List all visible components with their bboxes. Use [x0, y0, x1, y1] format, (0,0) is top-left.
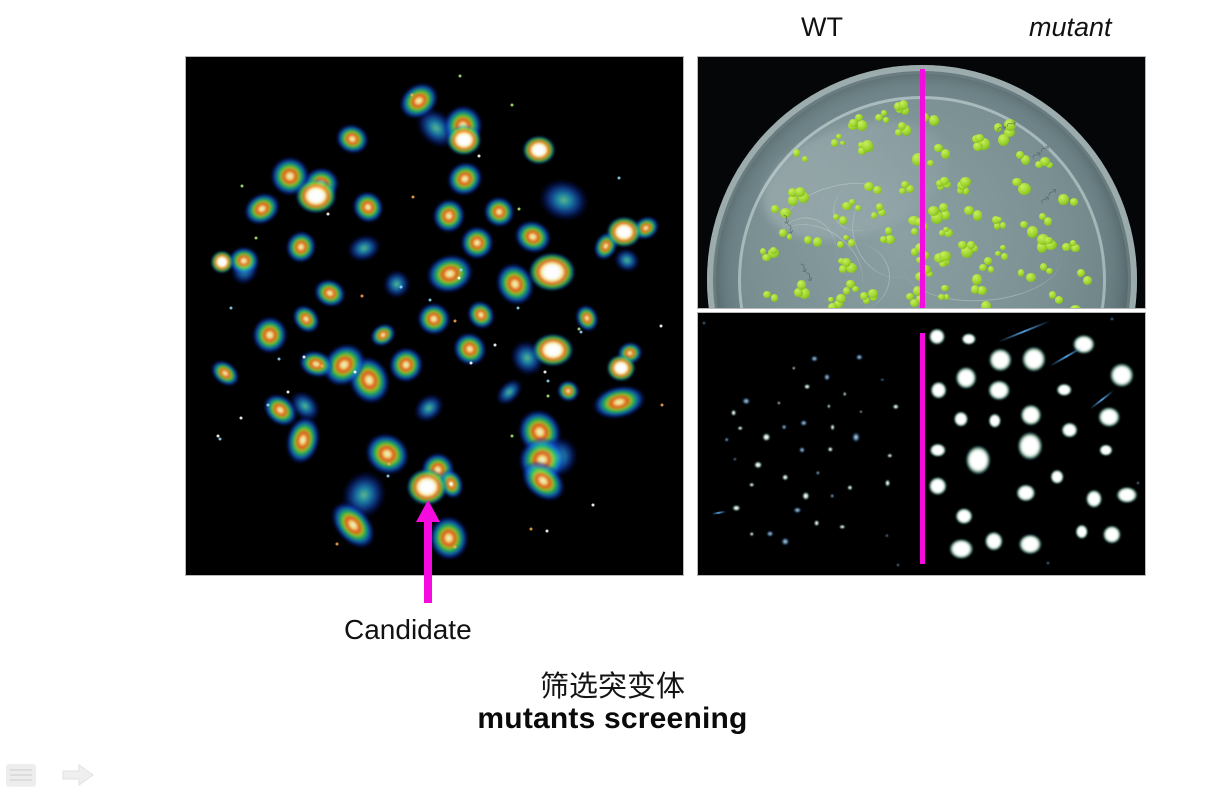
fluorescence-speck: [449, 212, 452, 215]
fluorescence-speck: [547, 395, 550, 398]
cotyledon: [828, 297, 834, 303]
fluorescence-speck: [267, 404, 270, 407]
fluorescent-seedling: [1056, 383, 1072, 396]
fluorescence-blob: [332, 120, 373, 159]
fluorescent-seedling: [886, 534, 889, 538]
cotyledon: [770, 247, 777, 254]
fluorescence-speck: [321, 365, 324, 368]
fluorescent-seedling: [881, 378, 884, 381]
fluorescence-blob: [346, 185, 389, 229]
fluorescent-seedling: [856, 354, 862, 360]
fluorescent-seedling: [782, 425, 787, 430]
fluorescence-streak: [1050, 346, 1084, 367]
cotyledon: [1026, 273, 1035, 282]
fluorescence-speck: [517, 307, 520, 310]
fluorescence-speck: [478, 155, 481, 158]
fluorescence-speck: [618, 177, 621, 180]
fluorescent-seedling: [928, 328, 945, 346]
cotyledon: [793, 149, 801, 157]
cotyledon: [964, 206, 974, 215]
cotyledon: [842, 258, 850, 268]
fluorescence-speck: [580, 331, 583, 334]
fluorescence-blob: [415, 301, 453, 338]
fluorescent-seedling: [811, 355, 817, 362]
fluorescent-seedling: [954, 411, 969, 427]
cotyledon: [802, 156, 808, 162]
cotyledon: [967, 241, 974, 249]
cotyledon: [899, 188, 906, 194]
fluorescence-blob-bright: [607, 355, 635, 381]
cotyledon: [910, 299, 920, 307]
fluorescence-speck: [411, 94, 414, 97]
fluorescence-speck: [459, 75, 462, 78]
fluorescent-seedling: [966, 445, 992, 475]
cotyledon: [901, 181, 910, 188]
fluorescent-seedling: [804, 384, 810, 390]
fluorescence-speck: [494, 344, 497, 347]
fluorescent-seedling: [731, 409, 737, 415]
fluorescent-seedling: [794, 507, 801, 513]
cotyledon: [1070, 198, 1079, 206]
fluorescence-speck: [240, 417, 243, 420]
cotyledon: [944, 294, 949, 300]
cotyledon: [1016, 151, 1024, 159]
cotyledon: [1070, 305, 1080, 308]
fluorescent-seedling: [766, 531, 773, 538]
wt-label: WT: [801, 14, 843, 41]
fluorescent-seedling: [830, 494, 834, 498]
cotyledon: [1049, 291, 1056, 299]
fluorescence-blob: [384, 343, 427, 387]
cotyledon: [1083, 276, 1092, 286]
fluorescence-blob: [534, 173, 593, 226]
fluorescence-blob: [367, 319, 400, 350]
fluorescent-seedling: [792, 367, 795, 370]
fluorescent-seedling: [843, 392, 847, 396]
cotyledon: [906, 293, 913, 300]
cotyledon: [984, 257, 993, 265]
slide-canvas: WT mutant ⤳⤳⤳⤳⤳⤳⤳⤳⤳⤳ Candidate 筛选突变体 mut…: [0, 0, 1225, 800]
fluorescent-seedling: [949, 539, 973, 560]
fluorescent-seedling: [955, 366, 977, 389]
fluorescent-seedling: [989, 348, 1012, 372]
fluorescence-speck: [361, 295, 364, 298]
fluorescence-speck: [255, 237, 258, 240]
cotyledon: [1044, 217, 1052, 226]
cotyledon: [1000, 245, 1006, 250]
cotyledon: [941, 285, 949, 292]
cotyledon: [828, 303, 837, 308]
fluorescent-seedling: [1099, 445, 1113, 457]
fluorescent-seedling: [828, 447, 832, 451]
fluorescent-seedling: [893, 404, 900, 410]
fluorescence-blob: [441, 156, 488, 202]
fluorescent-seedling: [1017, 431, 1043, 460]
fluorescent-seedling: [1021, 346, 1046, 372]
fluorescent-seedling: [763, 434, 770, 442]
fluorescence-speck: [511, 104, 514, 107]
fluorescent-seedling: [777, 402, 780, 405]
caption-english: mutants screening: [0, 704, 1225, 734]
fluorescence-blob-bright: [211, 251, 233, 273]
fluorescence-speck: [454, 320, 457, 323]
fluorescent-seedling: [738, 427, 743, 431]
fluorescent-seedling: [887, 453, 892, 458]
fluorescence-speck: [530, 528, 533, 531]
cotyledon: [795, 187, 805, 196]
fluorescence-speck: [287, 391, 290, 394]
cotyledon: [855, 205, 861, 211]
fluorescent-seedling: [1019, 534, 1043, 555]
cotyledon: [883, 117, 889, 123]
fluorescent-seedling: [1050, 469, 1064, 484]
cotyledon: [788, 195, 799, 206]
fluorescence-blob-bright: [533, 334, 573, 366]
fluorescence-speck: [336, 543, 339, 546]
fluorescence-speck: [547, 380, 550, 383]
fluorescence-speck: [303, 356, 306, 359]
fluorescent-seedling: [961, 333, 976, 345]
fluorescence-speck: [219, 438, 222, 441]
fluorescence-speck: [460, 269, 463, 272]
cotyledon: [995, 251, 1001, 256]
cotyledon: [1027, 226, 1038, 237]
fluorescent-seedling: [749, 532, 754, 536]
cotyledon: [848, 239, 855, 247]
fluorescence-blob: [282, 227, 321, 267]
fluorescence-speck: [354, 371, 357, 374]
fluorescence-speck: [470, 362, 473, 365]
cotyledon: [981, 301, 990, 308]
fluorescent-seedling: [847, 485, 852, 491]
cotyledon: [929, 115, 939, 125]
fluorescent-seedling: [928, 477, 948, 496]
fluorescence-blob: [428, 195, 468, 237]
fluorescence-blob-bright: [447, 125, 481, 155]
arrow-right-icon[interactable]: [62, 763, 94, 787]
cotyledon: [1020, 221, 1028, 228]
cotyledon: [873, 186, 882, 193]
fluorescent-seedling: [749, 482, 755, 486]
fluorescent-seedling: [828, 405, 831, 409]
fluorescence-speck: [387, 475, 390, 478]
cotyledon: [911, 228, 918, 235]
fluorescent-seedling: [1109, 363, 1135, 388]
fluorescent-seedling: [1075, 524, 1089, 540]
fluorescence-speck: [400, 286, 403, 289]
fluorescent-seedling: [860, 410, 863, 413]
fluorescent-seedling: [1097, 407, 1120, 428]
cotyledon: [846, 280, 855, 288]
fluorescence-blob: [409, 388, 449, 427]
cotyledon: [960, 177, 971, 186]
cotyledon: [898, 122, 906, 130]
fluorescence-speck: [450, 483, 453, 486]
fluorescence-blob: [206, 355, 243, 391]
fluorescent-seedling: [988, 380, 1011, 400]
dish-marking: ⤳⤳: [1035, 183, 1061, 209]
candidate-arrow: [416, 500, 440, 603]
cotyledon: [1000, 222, 1006, 229]
fluorescent-seedling: [742, 398, 750, 405]
fluorescent-seedling: [1085, 489, 1102, 508]
fluorescence-blob: [461, 296, 499, 335]
cotyledon: [939, 251, 951, 261]
fluorescence-speck: [429, 299, 432, 302]
fluorescent-seedling: [754, 461, 762, 468]
cotyledon: [876, 203, 883, 211]
fluorescence-blob: [572, 302, 602, 335]
fluorescence-blob: [310, 275, 350, 312]
mutant-label: mutant: [1029, 14, 1112, 41]
fluorescence-speck: [511, 435, 514, 438]
cotyledon: [934, 144, 942, 152]
fluorescent-seedling: [885, 480, 891, 487]
cotyledon: [885, 227, 892, 235]
fluorescence-speck: [703, 322, 706, 325]
fluorescence-speck: [1137, 482, 1140, 485]
fluorescence-blob: [478, 190, 521, 233]
pseudocolor-fluorescence-plate: [186, 57, 683, 575]
fluorescence-speck: [230, 307, 233, 310]
fluorescent-seedling: [1020, 404, 1042, 426]
navigation-controls[interactable]: [6, 762, 126, 790]
cotyledon: [855, 114, 864, 121]
cotyledon: [1044, 237, 1052, 244]
fluorescence-blob: [589, 380, 648, 423]
fluorescent-seedling: [783, 475, 789, 480]
cotyledon: [864, 182, 873, 191]
fluorescent-seedling: [929, 444, 946, 458]
fluorescent-seedling: [1016, 484, 1036, 502]
fluorescence-blob: [382, 268, 413, 299]
menu-icon[interactable]: [6, 764, 36, 786]
fluorescence-speck: [454, 546, 457, 549]
caption-chinese: 筛选突变体: [0, 672, 1225, 701]
fluorescence-speck: [660, 325, 663, 328]
menu-line: [10, 769, 32, 771]
fluorescence-speck: [592, 504, 595, 507]
menu-line: [10, 779, 32, 781]
dish-marking: ⤳⤳: [993, 114, 1019, 137]
fluorescent-seedling: [930, 382, 948, 400]
cotyledon: [836, 134, 841, 138]
fluorescent-seedling: [988, 413, 1001, 429]
fluorescence-blob-bright: [529, 253, 575, 291]
fluorescence-speck: [1047, 562, 1050, 565]
fluorescence-streak: [712, 511, 726, 515]
cotyledon: [860, 292, 868, 300]
fluorescent-seedling: [1061, 422, 1079, 438]
cotyledon: [843, 287, 850, 295]
cotyledon: [839, 216, 848, 226]
fluorescent-seedling: [733, 505, 740, 511]
fluorescent-seedling: [802, 492, 809, 500]
cotyledon: [1012, 178, 1022, 186]
fluorescent-seedling: [830, 425, 835, 431]
cotyledon: [943, 227, 949, 232]
fluorescent-seedling: [734, 458, 737, 461]
fluorescence-speck: [388, 463, 391, 466]
candidate-label: Candidate: [344, 616, 472, 644]
fluorescence-streak: [998, 320, 1051, 343]
fluorescent-seedling: [1116, 486, 1138, 503]
fluorescent-seedling: [824, 374, 830, 381]
cotyledon: [1070, 240, 1077, 246]
fluorescence-speck: [546, 530, 549, 533]
cotyledon: [941, 149, 950, 159]
fluorescence-blob: [251, 315, 289, 355]
fluorescent-seedling: [955, 508, 973, 525]
cotyledon: [899, 100, 908, 110]
fluorescence-blob: [447, 326, 494, 372]
fluorescence-speck: [518, 208, 521, 211]
fluorescence-blob: [287, 300, 325, 338]
cotyledon: [971, 285, 979, 294]
fluorescence-speck: [578, 328, 581, 331]
fluorescent-seedling: [799, 447, 805, 453]
cotyledon: [973, 142, 983, 152]
cotyledon: [972, 274, 982, 284]
fluorescence-speck: [412, 196, 415, 199]
fluorescence-blob: [554, 377, 583, 405]
cotyledon: [988, 266, 995, 273]
fluorescence-speck: [458, 277, 461, 280]
fluorescence-blob: [239, 187, 286, 231]
fluorescent-seedling: [800, 420, 808, 426]
fluorescence-speck: [1111, 318, 1114, 321]
cotyledon: [1040, 263, 1048, 272]
fluorescent-seedling: [781, 537, 789, 546]
fluorescence-speck: [327, 213, 330, 216]
fluorescent-seedling: [814, 520, 820, 526]
fluorescence-blob: [490, 374, 526, 410]
fluorescence-speck: [544, 371, 547, 374]
cotyledon: [1055, 296, 1063, 303]
fluorescent-seedling: [816, 471, 820, 475]
fluorescence-speck: [897, 564, 900, 567]
fluorescence-blob-bright: [607, 217, 641, 247]
fluorescent-seedling: [839, 525, 845, 529]
fluorescence-blob: [344, 231, 384, 266]
cotyledon: [843, 235, 848, 240]
fluorescent-seedling: [724, 437, 729, 442]
fluorescence-speck: [241, 185, 244, 188]
arrow-shaft: [424, 519, 432, 603]
fluorescent-seedling: [852, 433, 860, 443]
cotyledon: [881, 110, 887, 116]
cotyledon: [996, 217, 1002, 222]
plate-image: [186, 57, 683, 575]
wt-mutant-divider-bottom: [920, 333, 925, 564]
wt-mutant-divider-top: [920, 69, 925, 308]
fluorescence-speck: [278, 358, 281, 361]
fluorescence-blob-bright: [296, 179, 336, 213]
fluorescence-speck: [661, 404, 664, 407]
menu-line: [10, 774, 32, 776]
cotyledon: [973, 210, 983, 220]
fluorescent-seedling: [984, 532, 1003, 552]
cotyledon: [771, 294, 778, 301]
cotyledon: [979, 264, 987, 271]
fluorescent-seedling: [1103, 525, 1122, 545]
fluorescence-blob-bright: [523, 136, 555, 164]
cotyledon: [868, 289, 878, 298]
cotyledon: [763, 291, 771, 298]
